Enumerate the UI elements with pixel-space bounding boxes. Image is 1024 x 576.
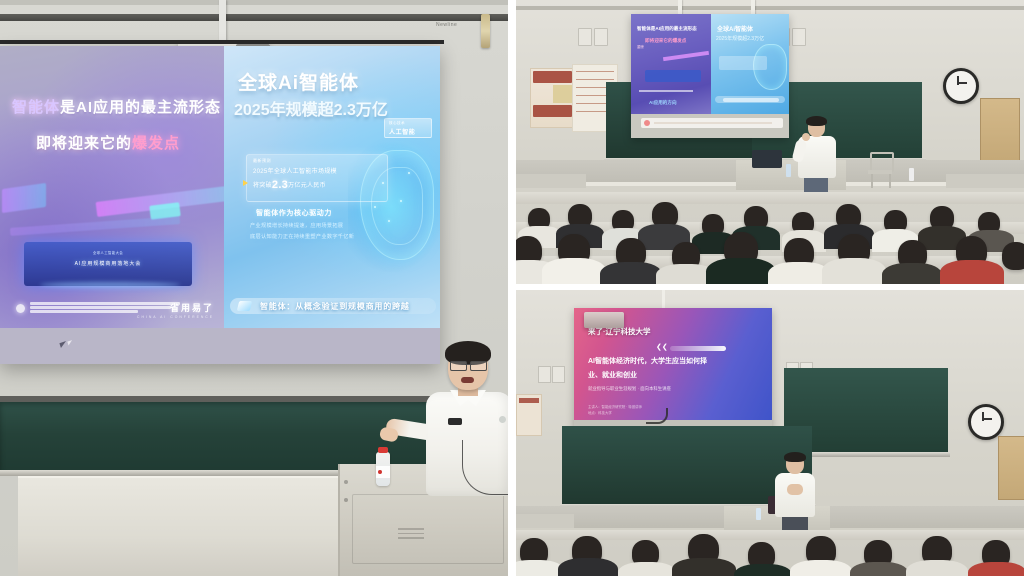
brand-name: 省用易了 [137, 301, 214, 314]
br-bottle [756, 508, 761, 520]
bottle-cap [378, 447, 388, 453]
audience-shoulders [768, 262, 830, 284]
slide-right-half: 核心技术 人工智能 全球Ai智能体 2025年规模超2.3万亿 最新预测 202… [224, 46, 440, 328]
photo-collage: Newline 智能体是AI应用的最主流形态 即将迎来它的爆发点 全球人工智能大… [0, 0, 1024, 576]
podium-knob-2 [344, 498, 348, 502]
projection-screen: 智能体是AI应用的最主流形态 即将迎来它的爆发点 全球人工智能大会 AI应用规模… [0, 46, 440, 364]
hall-progress-bar[interactable] [654, 122, 772, 124]
forecast-suffix: 万亿元人民币 [288, 183, 326, 189]
forecast-tag: 最新预测 [253, 158, 271, 164]
br-slide-footnote-2: 地点：科技大学 [588, 410, 612, 415]
hall-laptop [752, 150, 782, 168]
screen-top-frame [0, 40, 444, 44]
slide-art-shape-4 [10, 216, 180, 236]
speaker-person [418, 344, 508, 524]
bench-row-1 [516, 192, 1024, 204]
panel-gutter-horizontal [516, 284, 1024, 290]
hall-slide-right: 全球Ai智能体 2025年规模超2.3万亿 [711, 14, 789, 114]
eyeglasses-icon [450, 361, 487, 369]
hall-slide-caption: AI应用的方向 [649, 100, 677, 106]
bottle-label [376, 466, 390, 478]
stage-caption: 全球人工智能大会 [93, 250, 123, 255]
br-side-table [516, 514, 574, 528]
hall-slide-headline: 智能体是AI应用的最主流形态 [637, 26, 697, 32]
podium-vent [398, 528, 424, 542]
forecast-arrow-icon [243, 180, 248, 186]
forecast-line-1: 2025年全球人工智能市场规模 [253, 166, 337, 175]
slide-left-headline-rest: 是AI应用的最主流形态 [60, 99, 221, 116]
ceiling-beam [0, 14, 508, 21]
slide-bullet-dot [16, 304, 25, 313]
br-speaker-person [772, 454, 820, 534]
br-audience-area [516, 528, 1024, 576]
br-projector-icon [584, 312, 624, 328]
shirt-logo [499, 416, 506, 423]
title-slide-photo: 来了·辽宁科技大学 AI智能体经济时代，大学生应当如何择 业、就业和创业 就业指… [516, 290, 1024, 576]
slide-left-headline-highlight: 智能体 [12, 99, 60, 116]
audience-shoulders [672, 558, 736, 576]
br-wall-switch-2 [552, 366, 565, 383]
slide-stage-graphic: 全球人工智能大会 AI应用规模商用落地大会 [24, 242, 192, 286]
slide-right-body-line-2: 底层认知能力正在持续重塑产业数字千亿新 [250, 233, 354, 240]
br-wooden-wall-board [998, 436, 1024, 500]
hall-ceiling-line [516, 6, 1024, 10]
audience-shoulders [850, 562, 908, 576]
wooden-wall-board [980, 98, 1020, 164]
front-desk [18, 476, 338, 576]
slide-left-subline: 即将迎来它的爆发点 [36, 132, 180, 153]
audience-shoulders [618, 562, 676, 576]
hall-speaker-person [794, 118, 840, 194]
audience-head [1002, 242, 1024, 270]
slide-left-subline-b: 爆发点 [132, 135, 180, 152]
audience-shoulders [516, 560, 564, 576]
hall-bottle-2 [909, 168, 914, 181]
wall-clock-icon [943, 68, 979, 104]
hall-screen-lower-band [631, 114, 789, 138]
main-lecture-photo: Newline 智能体是AI应用的最主流形态 即将迎来它的爆发点 全球人工智能大… [0, 0, 508, 576]
hall-play-icon[interactable] [644, 120, 650, 126]
audience-shoulders [542, 258, 606, 284]
br-wall-switch-1 [538, 366, 551, 383]
slide-brand-block: 省用易了 CHINA AI CONFERENCE [137, 301, 214, 319]
wall-switch-4 [792, 28, 806, 46]
panel-gutter-vertical [508, 0, 516, 576]
br-slide-footnote-1: 主讲人：智能经济研究院 · 特邀讲师 [588, 404, 642, 409]
hall-video-controls[interactable] [641, 118, 783, 128]
podium-knob-1 [344, 480, 348, 484]
br-slide-title-line-1: AI智能体经济时代，大学生应当如何择 [588, 356, 707, 366]
brand-subtitle: CHINA AI CONFERENCE [137, 315, 214, 319]
audience-shoulders [706, 258, 776, 284]
audience-shoulders [600, 262, 662, 284]
screen-brand-label: Newline [436, 22, 457, 28]
water-bottle [376, 452, 390, 486]
slide-left-subline-a: 即将迎来它的 [36, 135, 132, 152]
forecast-line-2: 将突破2.3万亿元人民币 [253, 179, 326, 191]
hall-slide-tag: 重磅 [637, 44, 644, 49]
slide-left-headline: 智能体是AI应用的最主流形态 [12, 96, 221, 117]
slide-bottom-banner: 智能体：从概念验证到规模商用的跨越 [230, 298, 436, 314]
slide-right-body-heading: 智能体作为核心驱动力 [256, 208, 332, 218]
hall-bottle-1 [786, 164, 791, 177]
ai-chip-badge: 核心技术 人工智能 [384, 118, 432, 138]
forecast-prefix: 将突破 [253, 183, 272, 189]
br-wall-clock-icon [968, 404, 1004, 440]
audience-shoulders [968, 562, 1024, 576]
wall-poster-1 [530, 68, 575, 128]
hall-slide-left: 智能体是AI应用的最主流形态 重磅 即将迎来它的爆发点 [631, 14, 711, 114]
forecast-card: 最新预测 2025年全球人工智能市场规模 将突破2.3万亿元人民币 [246, 154, 388, 202]
hall-slide-subline: 即将迎来它的爆发点 [645, 38, 686, 44]
hall-chair [868, 152, 894, 188]
stage-glow [40, 282, 180, 288]
audience-shoulders [882, 263, 942, 284]
mouse-cursor-icon [59, 341, 67, 348]
slide-left-half: 智能体是AI应用的最主流形态 即将迎来它的爆发点 全球人工智能大会 AI应用规模… [0, 46, 224, 328]
speaker-mouth [461, 377, 474, 383]
ai-chip-main-label: 人工智能 [389, 127, 415, 136]
hall-projection-screen: 智能体是AI应用的最主流形态 重磅 即将迎来它的爆发点 全球Ai智能体 2025… [631, 14, 789, 138]
wall-switch-1 [578, 28, 592, 46]
footnote-line-3 [30, 310, 138, 313]
ai-chip-top-label: 核心技术 [389, 121, 405, 126]
audience-shoulders [558, 558, 618, 576]
slide-right-body-line-1: 产业规模增长持续提速，应用场景拓展 [250, 222, 343, 229]
projector-mount-pole [219, 0, 226, 44]
ceiling-edge [0, 0, 508, 5]
wall-switch-2 [594, 28, 608, 46]
br-slide-title-line-2: 业、就业和创业 [588, 370, 637, 380]
clip-microphone-icon [448, 418, 462, 425]
audience-shoulders [790, 560, 852, 576]
banner-text: 智能体：从概念验证到规模商用的跨越 [260, 301, 410, 312]
stage-big-text: AI应用规模商用落地大会 [75, 260, 142, 267]
hall-slide-right-subtitle: 2025年规模超2.3万亿 [716, 35, 764, 42]
slide-right-subtitle: 2025年规模超2.3万亿 [234, 96, 388, 120]
hall-slide-right-title: 全球Ai智能体 [717, 24, 753, 33]
slide-right-title: 全球Ai智能体 [238, 68, 359, 95]
slide-art-shape-1 [2, 183, 46, 213]
wall-hook [481, 14, 490, 48]
br-slide-subtitle: 就业指导与职业生涯规划 · 面向本科生讲座 [588, 386, 671, 392]
chevron-accent-icon [670, 346, 726, 351]
audience-shoulders [906, 560, 968, 576]
audience-shoulders [734, 564, 792, 576]
classroom-wide-photo: 智能体是AI应用的最主流形态 重磅 即将迎来它的爆发点 全球Ai智能体 2025… [516, 0, 1024, 284]
audience-shoulders [940, 260, 1004, 284]
br-wall-poster [516, 394, 542, 436]
banner-icon [237, 301, 252, 311]
forecast-number: 2.3 [272, 179, 288, 191]
audience-area [516, 186, 1024, 284]
audience-shoulders [822, 258, 886, 284]
